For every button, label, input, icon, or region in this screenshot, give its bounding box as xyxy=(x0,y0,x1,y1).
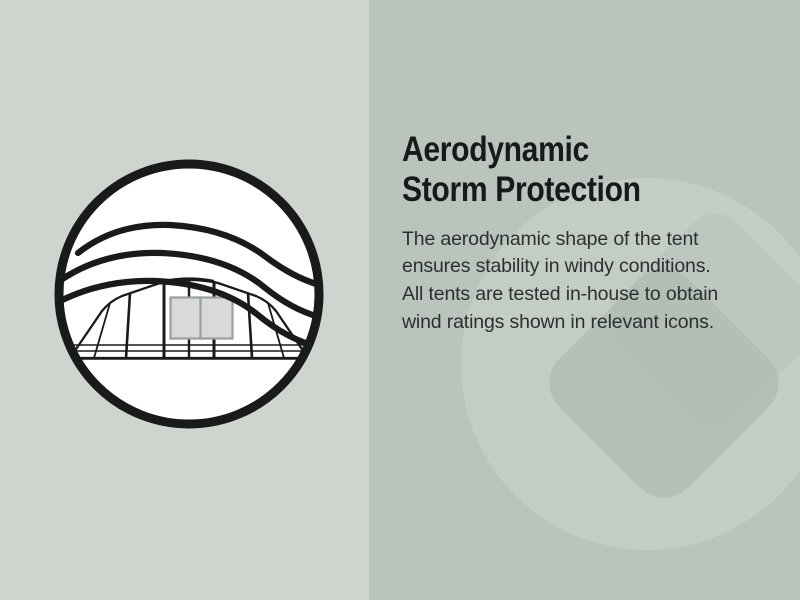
feature-slide: Aerodynamic Storm Protection The aerodyn… xyxy=(0,0,800,600)
right-panel: Aerodynamic Storm Protection The aerodyn… xyxy=(369,0,800,600)
page-title: Aerodynamic Storm Protection xyxy=(402,130,720,210)
left-panel xyxy=(0,0,369,600)
body-paragraph: The aerodynamic shape of the tent ensure… xyxy=(402,226,772,337)
aerodynamic-tent-in-wind-icon xyxy=(50,153,328,435)
text-block: Aerodynamic Storm Protection The aerodyn… xyxy=(402,130,772,337)
